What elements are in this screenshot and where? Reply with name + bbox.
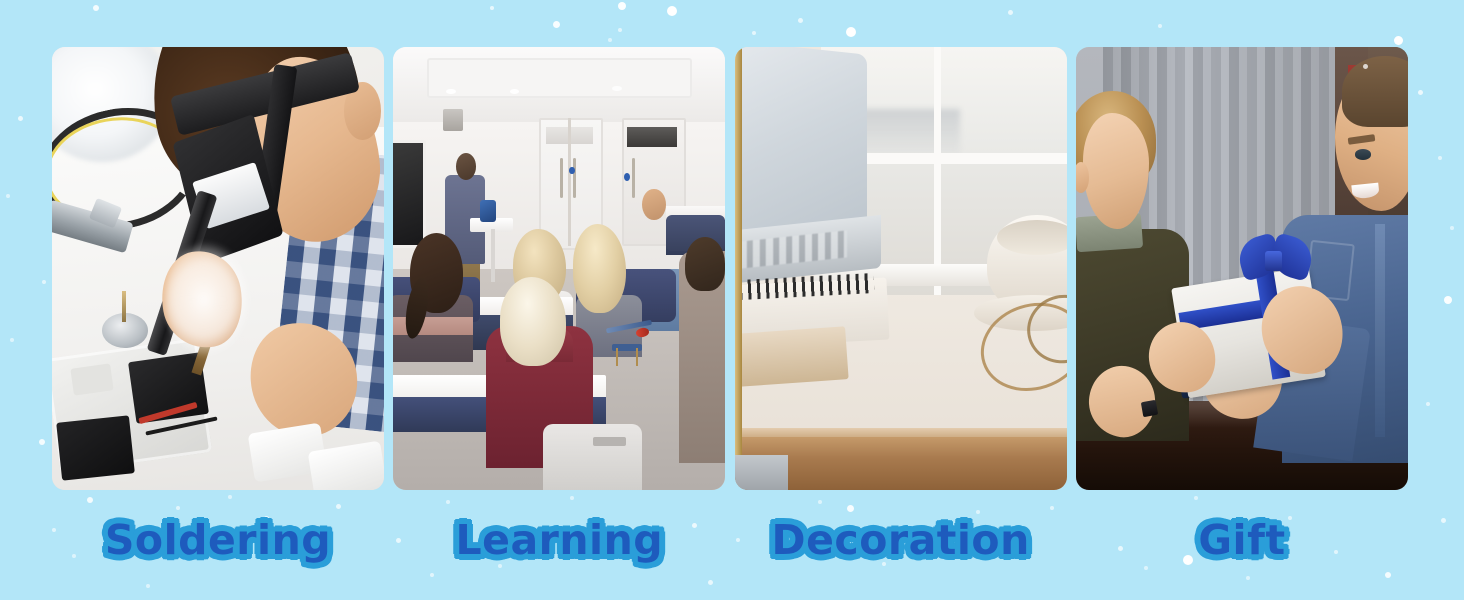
foreground-chair-slot [593,437,626,446]
kit-brass-leg-two [735,180,742,322]
single-door-transom [627,127,677,147]
solder-coil-pin [122,291,127,322]
man-shirt-placket [1375,224,1385,437]
background-dot [846,27,856,37]
background-dot [10,338,14,342]
feature-card-learning[interactable] [393,47,725,490]
photo-gift [1076,47,1408,490]
background-dot [667,6,677,16]
door-sign-blue-one [569,167,574,174]
background-dot [608,38,612,42]
feature-label-row: Soldering Learning Decoration Gift [52,505,1408,575]
background-dot [1450,226,1454,230]
student-seven-hair [685,237,725,290]
background-dot [1438,156,1442,160]
background-dot [490,6,494,10]
label-learning: Learning [456,516,664,564]
ceiling-recess [427,58,693,98]
chassis-cutout [70,363,113,395]
background-dot [6,194,10,198]
background-dot [228,495,232,499]
background-dot [39,439,45,445]
background-dot [446,500,450,504]
background-dot [1418,90,1423,95]
double-door-center-frame [568,118,571,246]
foreground-chair [543,424,643,490]
kit-leg-two [636,348,639,366]
wall-display-screen [393,140,426,248]
man-eye [1355,149,1372,160]
background-dot [618,28,622,32]
background-dot [87,497,93,503]
gift-bow-knot [1265,251,1282,271]
background-dot [1194,496,1198,500]
circuit-board-secondary [56,415,135,480]
background-dot [1246,576,1250,580]
wall-speaker [443,109,463,131]
background-dot [818,500,822,504]
double-door-handle-left [560,158,563,198]
solder-smoke [165,242,251,357]
kit-leg-one [616,348,619,366]
background-dot [1426,402,1430,406]
label-gift: Gift [1198,516,1285,564]
background-dot [618,2,626,10]
podium-leg [491,229,494,282]
demo-kit-on-podium [480,200,497,222]
background-dot [146,584,150,588]
double-door-handle-right [573,158,576,198]
background-dot [798,18,803,23]
student-six-hair [500,277,566,366]
background-dot [18,116,23,121]
label-cell-learning: Learning [393,505,725,575]
background-dot [93,5,99,11]
background-dot [1158,24,1162,28]
photo-soldering [52,47,384,490]
label-soldering: Soldering [105,516,331,564]
label-cell-decoration: Decoration [735,505,1067,575]
feature-card-gift[interactable] [1076,47,1408,490]
feature-card-soldering[interactable] [52,47,384,490]
background-dot [1008,10,1013,15]
label-cell-gift: Gift [1076,505,1408,575]
background-dot [752,31,756,35]
single-door-handle [632,158,635,198]
label-decoration: Decoration [772,516,1030,564]
feature-card-row [52,47,1408,490]
background-dot [708,580,713,585]
kit-motor [735,455,788,490]
label-cell-soldering: Soldering [52,505,384,575]
kit-brass-leg-three [735,322,742,455]
feature-card-decoration[interactable] [735,47,1067,490]
background-dot [1394,36,1403,45]
background-dot [570,496,574,500]
solar-system-kit [735,47,1067,490]
student-three-hair [573,224,626,313]
kit-brass-leg-one [735,47,742,180]
photo-learning [393,47,725,490]
background-dot [553,21,560,28]
background-dot [42,280,46,284]
photo-decoration [735,47,1067,490]
product-feature-banner: Soldering Learning Decoration Gift [0,0,1464,600]
background-dot [1444,296,1452,304]
background-dot [1441,518,1446,523]
